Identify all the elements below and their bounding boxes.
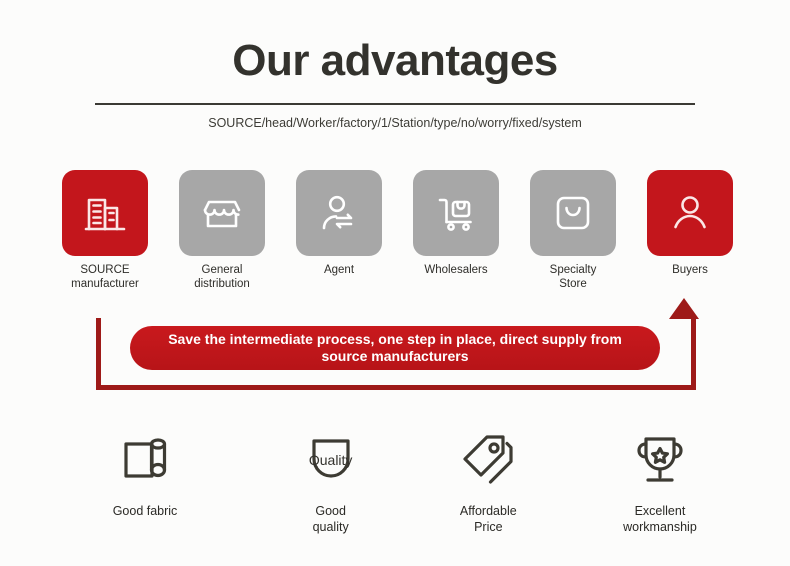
chain-tile-specialty-store[interactable]	[530, 170, 616, 256]
shopping-bag-icon	[549, 189, 597, 237]
supply-chain-row: SOURCE manufacturer General distribution	[55, 170, 740, 295]
chain-label-general-distribution: General distribution	[194, 263, 250, 292]
feature-label-excellent-workmanship: Excellent workmanship	[623, 503, 697, 536]
features-row: Good fabric Quality Good quality	[70, 425, 735, 540]
bracket-bottom-edge	[96, 385, 696, 390]
feature-label-line1: Good	[313, 503, 349, 519]
chain-item-specialty-store[interactable]: Specialty Store	[523, 170, 623, 295]
chain-tile-source-manufacturer[interactable]	[62, 170, 148, 256]
bracket-right-edge	[691, 318, 696, 390]
feature-label-line1: Excellent	[623, 503, 697, 519]
chain-label-line2: Store	[550, 277, 597, 291]
chain-item-wholesalers[interactable]: Wholesalers	[406, 170, 506, 295]
feature-label-good-quality: Good quality	[313, 503, 349, 536]
chain-label-specialty-store: Specialty Store	[550, 263, 597, 292]
feature-label-line1: Good fabric	[113, 503, 178, 519]
trophy-icon	[629, 425, 691, 495]
feature-label-line1: Affordable	[460, 503, 517, 519]
feature-label-affordable-price: Affordable Price	[460, 503, 517, 536]
price-tag-icon	[457, 425, 519, 495]
chain-tile-general-distribution[interactable]	[179, 170, 265, 256]
agent-exchange-icon	[315, 189, 363, 237]
advantages-infographic: Our advantages SOURCE/head/Worker/factor…	[0, 0, 790, 566]
chain-label-line1: Wholesalers	[424, 263, 487, 277]
chain-label-line2: manufacturer	[71, 277, 139, 291]
chain-item-general-distribution[interactable]: General distribution	[172, 170, 272, 295]
title-divider	[95, 103, 695, 105]
feature-label-line2: Price	[460, 519, 517, 535]
feature-label-line2: quality	[313, 519, 349, 535]
arrow-up-icon	[669, 298, 699, 319]
storefront-icon	[198, 189, 246, 237]
banner-message: Save the intermediate process, one step …	[130, 326, 660, 370]
page-title: Our advantages	[0, 38, 790, 84]
chain-label-line2: distribution	[194, 277, 250, 291]
feature-item-good-fabric[interactable]: Good fabric	[70, 425, 220, 540]
shopping-cart-icon	[432, 189, 480, 237]
fabric-roll-icon	[114, 425, 176, 495]
person-icon	[666, 189, 714, 237]
chain-label-wholesalers: Wholesalers	[424, 263, 487, 277]
factory-building-icon	[81, 189, 129, 237]
chain-item-source-manufacturer[interactable]: SOURCE manufacturer	[55, 170, 155, 295]
chain-label-line1: Agent	[324, 263, 354, 277]
bracket-left-edge	[96, 318, 101, 390]
chain-label-line1: Specialty	[550, 263, 597, 277]
feature-item-excellent-workmanship[interactable]: Excellent workmanship	[585, 425, 735, 540]
chain-tile-agent[interactable]	[296, 170, 382, 256]
page-subtitle: SOURCE/head/Worker/factory/1/Station/typ…	[0, 116, 790, 130]
feature-label-good-fabric: Good fabric	[113, 503, 178, 519]
chain-tile-buyers[interactable]	[647, 170, 733, 256]
chain-item-buyers[interactable]: Buyers	[640, 170, 740, 295]
chain-label-source-manufacturer: SOURCE manufacturer	[71, 263, 139, 292]
feature-item-good-quality[interactable]: Quality Good quality	[242, 425, 392, 540]
chain-tile-wholesalers[interactable]	[413, 170, 499, 256]
quality-shield-icon: Quality	[300, 425, 362, 495]
chain-label-line1: SOURCE	[71, 263, 139, 277]
quality-inner-text: Quality	[300, 452, 362, 468]
feature-item-affordable-price[interactable]: Affordable Price	[413, 425, 563, 540]
feature-label-line2: workmanship	[623, 519, 697, 535]
chain-label-agent: Agent	[324, 263, 354, 277]
chain-label-buyers: Buyers	[672, 263, 708, 277]
chain-label-line1: Buyers	[672, 263, 708, 277]
chain-label-line1: General	[194, 263, 250, 277]
chain-item-agent[interactable]: Agent	[289, 170, 389, 295]
savings-banner: Save the intermediate process, one step …	[96, 318, 696, 390]
